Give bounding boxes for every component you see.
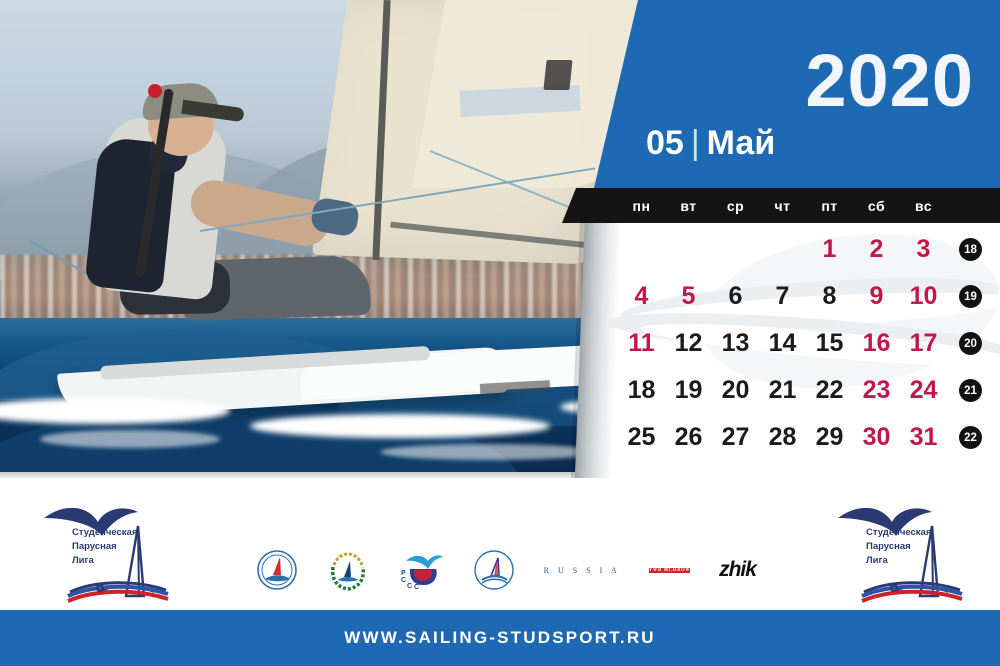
week-number-label: 22 <box>959 426 982 449</box>
date-cell[interactable]: 26 <box>665 425 712 450</box>
year-label: 2020 <box>805 44 974 118</box>
rscc-gull-icon: Р С С С <box>398 549 444 591</box>
calendar-page: 2020 05|Май пнвтсрчтптсбвс 1231845678910… <box>0 0 1000 666</box>
sponsor-logo-fantastica: YWB MCHROW <box>649 547 690 593</box>
sponsor-logo-iusc <box>327 547 369 593</box>
league-logo-left: Студенческая Парусная Лига <box>26 492 186 604</box>
sea-foam <box>40 430 220 448</box>
date-cell[interactable]: 21 <box>759 378 806 403</box>
logo-line-1: Студенческая <box>866 526 931 540</box>
date-cell[interactable]: 8 <box>806 284 853 309</box>
devoti-subtitle: R U S S I A <box>544 567 621 575</box>
date-cell[interactable]: 20 <box>712 378 759 403</box>
svg-text:С: С <box>407 583 412 590</box>
weekday-header-сб: сб <box>853 198 900 214</box>
week-number-badge: 22 <box>947 426 994 449</box>
weekday-row: пнвтсрчтптсбвс <box>618 188 1000 223</box>
date-cell[interactable]: 31 <box>900 425 947 450</box>
date-cell[interactable]: 23 <box>853 378 900 403</box>
week-number-label: 21 <box>959 379 982 402</box>
date-cell[interactable]: 22 <box>806 378 853 403</box>
date-cell[interactable]: 14 <box>759 331 806 356</box>
zhik-wordmark: zhik <box>719 558 756 582</box>
week-row: 1112131415161720 <box>618 320 1000 367</box>
month-name: Май <box>707 124 776 162</box>
logo-text: Студенческая Парусная Лига <box>866 526 931 568</box>
weekday-header-пн: пн <box>618 198 665 214</box>
date-cell[interactable]: 24 <box>900 378 947 403</box>
week-number-label: 20 <box>959 332 982 355</box>
date-cell[interactable]: 27 <box>712 425 759 450</box>
week-number-badge: 21 <box>947 379 994 402</box>
fantastica-wordmark: YWB MCHROW <box>649 567 690 573</box>
sponsor-logo-rscc: Р С С С <box>398 547 444 593</box>
month-separator: | <box>684 124 707 162</box>
date-cell[interactable]: 25 <box>618 425 665 450</box>
date-cell[interactable]: 13 <box>712 331 759 356</box>
date-cell[interactable]: 5 <box>665 284 712 309</box>
logo-line-3: Лига <box>866 554 931 568</box>
date-grid: 1231845678910191112131415161720181920212… <box>618 226 1000 461</box>
logo-line-1: Студенческая <box>72 526 137 540</box>
date-cell[interactable]: 3 <box>900 237 947 262</box>
week-number-label: 19 <box>959 285 982 308</box>
week-number-badge: 19 <box>947 285 994 308</box>
mast-icon <box>932 526 933 596</box>
tiller-grip <box>148 84 162 98</box>
week-row: 1819202122232421 <box>618 367 1000 414</box>
date-cell[interactable]: 2 <box>853 237 900 262</box>
date-cell[interactable]: 7 <box>759 284 806 309</box>
date-cell[interactable]: 9 <box>853 284 900 309</box>
date-cell[interactable]: 28 <box>759 425 806 450</box>
date-cell[interactable]: 19 <box>665 378 712 403</box>
sponsor-logo-row: Р С С С R U S S I A YWB MCHROW zhik <box>256 542 756 598</box>
roundel-blue-icon <box>256 549 298 591</box>
logo-line-3: Лига <box>72 554 137 568</box>
date-cell[interactable]: 18 <box>618 378 665 403</box>
date-cell[interactable]: 17 <box>900 331 947 356</box>
logo-text: Студенческая Парусная Лига <box>72 526 137 568</box>
weekday-header-bar: пнвтсрчтптсбвс <box>562 188 1000 223</box>
weekday-header-вт: вт <box>665 198 712 214</box>
week-number-badge: 18 <box>947 238 994 261</box>
fantastica-subtitle: YWB MCHROW <box>649 568 690 573</box>
date-cell[interactable]: 10 <box>900 284 947 309</box>
month-label: 05|Май <box>646 126 775 160</box>
logo-line-2: Парусная <box>866 540 931 554</box>
weekday-header-чт: чт <box>759 198 806 214</box>
week-number-badge: 20 <box>947 332 994 355</box>
date-cell[interactable]: 4 <box>618 284 665 309</box>
month-number: 05 <box>646 124 684 162</box>
svg-text:Р: Р <box>401 570 406 577</box>
devoti-wordmark: R U S S I A <box>544 566 621 575</box>
mast-icon <box>138 526 139 596</box>
date-cell[interactable]: 30 <box>853 425 900 450</box>
roundel-outline-icon <box>473 549 515 591</box>
date-cell[interactable]: 29 <box>806 425 853 450</box>
weekday-header-вс: вс <box>900 198 947 214</box>
sponsor-logo-zhik: zhik <box>719 547 756 593</box>
date-cell[interactable]: 15 <box>806 331 853 356</box>
website-url[interactable]: WWW.SAILING-STUDSPORT.RU <box>0 628 1000 648</box>
week-row: 2526272829303122 <box>618 414 1000 461</box>
sponsor-logo-vfps <box>473 547 515 593</box>
league-logo-right: Студенческая Парусная Лига <box>820 492 980 604</box>
date-cell[interactable]: 6 <box>712 284 759 309</box>
wave-red-icon <box>68 592 168 601</box>
date-cell[interactable]: 1 <box>806 237 853 262</box>
wave-crest <box>250 414 550 438</box>
footer-bar: WWW.SAILING-STUDSPORT.RU <box>0 610 1000 666</box>
weekday-header-пт: пт <box>806 198 853 214</box>
week-row: 12318 <box>618 226 1000 273</box>
sponsor-logo-devotisailing: R U S S I A <box>544 547 621 593</box>
date-cell[interactable]: 16 <box>853 331 900 356</box>
roundel-laurel-icon <box>327 549 369 591</box>
date-cell[interactable]: 11 <box>618 331 665 356</box>
sponsor-logo-rpo <box>256 547 298 593</box>
svg-text:С: С <box>401 577 406 584</box>
week-number-label: 18 <box>959 238 982 261</box>
date-cell[interactable]: 12 <box>665 331 712 356</box>
week-row: 4567891019 <box>618 273 1000 320</box>
wave-red-icon <box>862 592 962 601</box>
weekday-header-ср: ср <box>712 198 759 214</box>
sail-number <box>543 60 572 90</box>
logo-line-2: Парусная <box>72 540 137 554</box>
sea-foam <box>380 444 600 460</box>
svg-text:С: С <box>414 584 419 591</box>
